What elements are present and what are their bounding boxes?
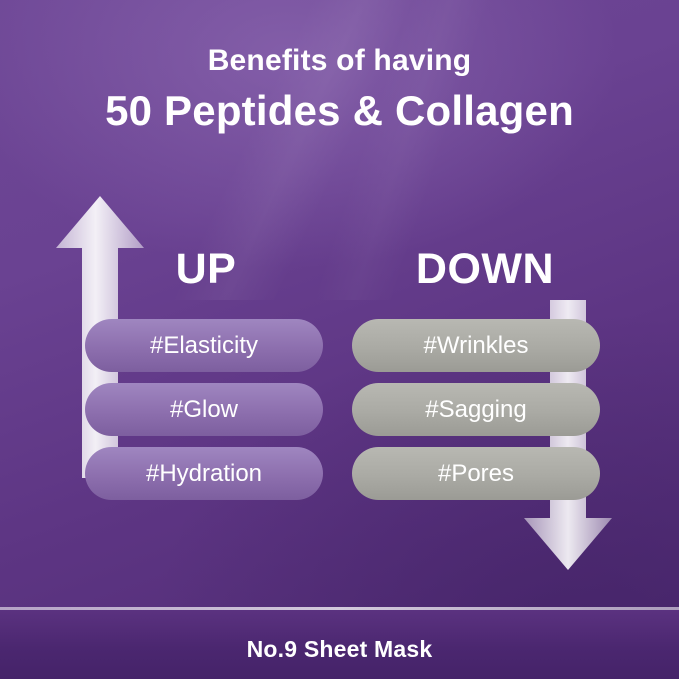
benefit-pill-up-1: #Elasticity — [85, 319, 323, 372]
poster-canvas: Benefits of having 50 Peptides & Collage… — [0, 0, 679, 679]
benefit-pill-up-3: #Hydration — [85, 447, 323, 500]
benefit-pill-down-3: #Pores — [352, 447, 600, 500]
headline-line-2: 50 Peptides & Collagen — [0, 87, 679, 135]
column-title-down: DOWN — [360, 245, 610, 294]
column-title-up: UP — [90, 245, 322, 294]
benefit-pill-down-1: #Wrinkles — [352, 319, 600, 372]
headline-line-1: Benefits of having — [0, 44, 679, 77]
headline-block: Benefits of having 50 Peptides & Collage… — [0, 44, 679, 135]
benefit-pill-down-2: #Sagging — [352, 383, 600, 436]
footer-product-name: No.9 Sheet Mask — [0, 636, 679, 663]
benefit-pill-up-2: #Glow — [85, 383, 323, 436]
